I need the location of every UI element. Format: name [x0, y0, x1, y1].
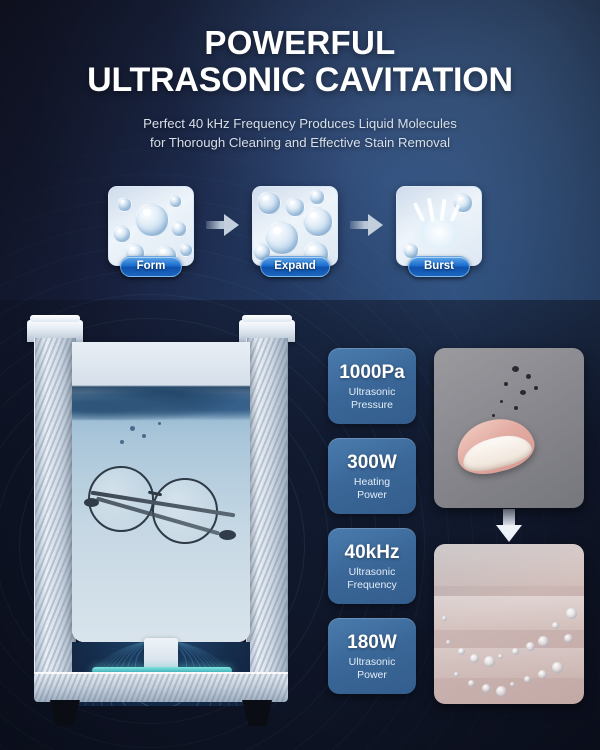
stage-expand-image: [252, 186, 338, 266]
photo-denture-closeup: [434, 544, 584, 704]
housing-foot-left: [50, 700, 80, 726]
stage-burst-label: Burst: [408, 256, 470, 277]
stage-form-label: Form: [120, 256, 182, 277]
subtitle-line-2: for Thorough Cleaning and Effective Stai…: [150, 135, 450, 150]
denture-object: [451, 411, 539, 480]
eyeglass-tip-left: [84, 498, 99, 507]
water-surface-splash: [72, 386, 250, 420]
housing-wall-right: [246, 338, 288, 686]
spec-label: Ultrasonic Pressure: [349, 386, 396, 412]
housing-base: [34, 672, 288, 702]
title-line-2: ULTRASONIC CAVITATION: [87, 61, 513, 99]
title-line-1: POWERFUL: [204, 24, 395, 61]
spec-label: Ultrasonic Power: [349, 656, 396, 682]
stage-arrow-2-icon: [350, 214, 384, 236]
stage-form: Form: [108, 186, 194, 266]
stage-expand: Expand: [252, 186, 338, 266]
spec-ultrasonic-power: 180W Ultrasonic Power: [328, 618, 416, 694]
page-subtitle: Perfect 40 kHz Frequency Produces Liquid…: [0, 114, 600, 152]
before-after-photos: [434, 348, 584, 704]
eyeglass-tip-right: [219, 530, 236, 540]
eyeglasses-in-tank: [86, 462, 238, 544]
product-infographic: POWERFUL ULTRASONIC CAVITATION Perfect 4…: [0, 0, 600, 750]
stage-burst-image: [396, 186, 482, 266]
hero-header: POWERFUL ULTRASONIC CAVITATION Perfect 4…: [0, 24, 600, 152]
stage-burst: Burst: [396, 186, 482, 266]
spec-value: 40kHz: [345, 542, 400, 564]
spec-ultrasonic-pressure: 1000Pa Ultrasonic Pressure: [328, 348, 416, 424]
burst-splash-icon: [413, 208, 465, 248]
spec-ultrasonic-frequency: 40kHz Ultrasonic Frequency: [328, 528, 416, 604]
stage-form-image: [108, 186, 194, 266]
process-arrow-down-icon: [434, 508, 584, 544]
specification-list: 1000Pa Ultrasonic Pressure 300W Heating …: [328, 348, 416, 708]
photo-denture-in-water: [434, 348, 584, 508]
housing-wall-left: [34, 338, 76, 686]
ultrasonic-cleaner-cutaway: [16, 312, 306, 732]
cleaning-tank: [72, 342, 250, 642]
stage-arrow-1-icon: [206, 214, 240, 236]
page-title: POWERFUL ULTRASONIC CAVITATION: [0, 24, 600, 99]
spec-heating-power: 300W Heating Power: [328, 438, 416, 514]
spec-value: 300W: [347, 452, 397, 474]
spec-label: Ultrasonic Frequency: [347, 566, 397, 592]
housing-foot-right: [242, 700, 272, 726]
spec-value: 180W: [347, 632, 397, 654]
stage-expand-label: Expand: [260, 256, 330, 277]
cavitation-stage-diagram: Form Expand: [0, 186, 600, 286]
spec-label: Heating Power: [354, 476, 390, 502]
spec-value: 1000Pa: [339, 362, 405, 384]
subtitle-line-1: Perfect 40 kHz Frequency Produces Liquid…: [143, 116, 457, 131]
